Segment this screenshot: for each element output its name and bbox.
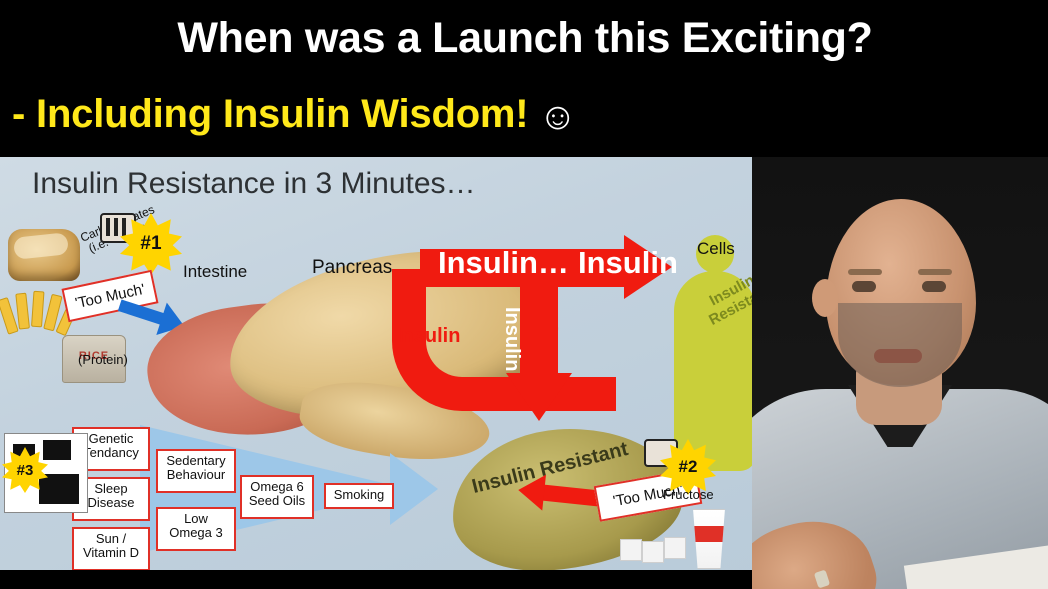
- burst-badge-3: #3: [2, 447, 48, 493]
- presenter-brow-left: [848, 269, 882, 275]
- presenter-mouth: [874, 349, 922, 363]
- sugar-cubes-image: [620, 529, 696, 563]
- title-line-2-text: - Including Insulin Wisdom!: [12, 92, 528, 136]
- insulin-label-top-right: Insulin: [578, 245, 678, 281]
- factor-box-omega6: Omega 6 Seed Oils: [240, 475, 314, 519]
- smiley-icon: ☺: [538, 96, 577, 139]
- headline-banner: When was a Launch this Exciting? - Inclu…: [0, 0, 1048, 155]
- insulin-down-arrow-head: [506, 373, 572, 421]
- funnel-head: [390, 453, 438, 525]
- burst-badge-1: #1: [120, 213, 182, 275]
- burst-number-1: #1: [120, 213, 182, 275]
- presenter-eye-right: [922, 281, 946, 292]
- screenshot-root: When was a Launch this Exciting? - Inclu…: [0, 0, 1048, 589]
- cells-label: Cells: [697, 239, 735, 259]
- burst-number-3: #3: [2, 447, 48, 493]
- factor-box-vitamin-d: Sun / Vitamin D: [72, 527, 150, 570]
- fructose-arrow-head: [516, 472, 546, 511]
- insulin-down-arrow-shaft: [520, 287, 558, 379]
- insulin-label-top-left: Insulin…: [438, 245, 569, 281]
- factor-box-sedentary: Sedentary Behaviour: [156, 449, 236, 493]
- pancreas-label: Pancreas: [312, 257, 392, 279]
- protein-label: (Protein): [78, 352, 128, 367]
- title-line-1: When was a Launch this Exciting?: [30, 14, 1020, 63]
- title-line-2: - Including Insulin Wisdom!☺: [12, 92, 892, 139]
- bread-image: [8, 229, 80, 281]
- insulin-label-down: Insulin: [500, 307, 523, 371]
- factor-box-smoking: Smoking: [324, 483, 394, 509]
- shared-slide: Insulin Resistance in 3 Minutes… RICE Ca…: [0, 157, 786, 570]
- insulin-label-curve: Insulin: [396, 325, 460, 348]
- slide-title: Insulin Resistance in 3 Minutes…: [32, 167, 476, 201]
- presenter-eye-left: [852, 281, 876, 292]
- intestine-label: Intestine: [183, 262, 247, 282]
- presenter-video: [752, 157, 1048, 589]
- presenter-brow-right: [918, 269, 952, 275]
- insulin-down-arrow: [520, 287, 576, 407]
- presenter-ear: [812, 279, 838, 317]
- fructose-label: Fructose: [663, 487, 714, 502]
- factor-box-low-omega3: Low Omega 3: [156, 507, 236, 551]
